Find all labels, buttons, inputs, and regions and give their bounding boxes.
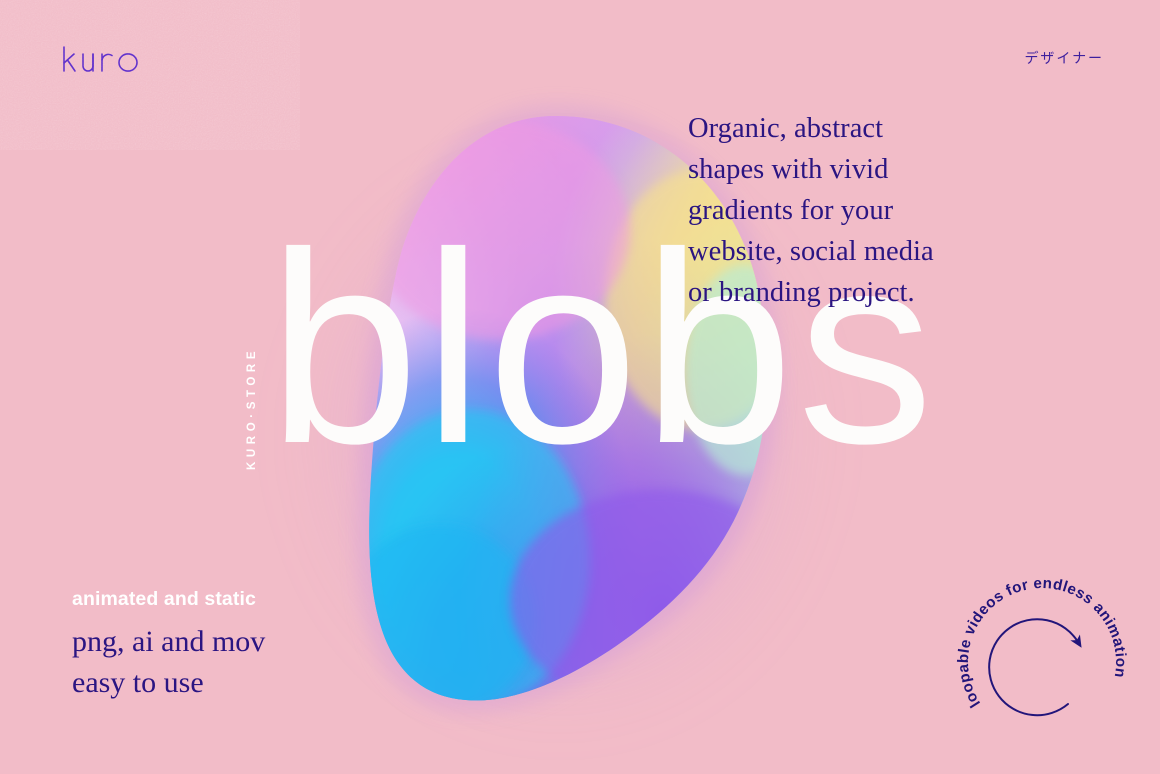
loopable-badge[interactable]: loopable videos for endless animation (952, 572, 1132, 752)
description-block: Organic, abstract shapes with vivid grad… (688, 108, 988, 313)
features-lines: png, ai and mov easy to use (72, 621, 265, 703)
description-line: shapes with vivid (688, 149, 988, 190)
vertical-brand-tag: KURO·STORE (246, 470, 369, 482)
logo-kuro[interactable] (60, 44, 150, 83)
jp-designer-tag: デザイナー (1024, 48, 1104, 68)
features-line: png, ai and mov (72, 621, 265, 662)
badge-circular-text: loopable videos for endless animation (955, 575, 1129, 711)
kuro-logo-icon (60, 44, 150, 78)
description-line: gradients for your (688, 190, 988, 231)
poster-canvas: デザイナー Organic, abstract shapes with vivi… (0, 0, 1160, 774)
features-block: animated and static png, ai and mov easy… (72, 588, 265, 703)
badge-text-path: loopable videos for endless animation (955, 575, 1129, 711)
features-line: easy to use (72, 662, 265, 703)
vertical-brand-tag-label: KURO·STORE (246, 347, 258, 470)
description-line: Organic, abstract (688, 108, 988, 149)
description-line: website, social media (688, 231, 988, 272)
circular-arrow-icon (989, 619, 1078, 715)
description-line: or branding project. (688, 272, 988, 313)
features-kicker: animated and static (72, 588, 265, 611)
